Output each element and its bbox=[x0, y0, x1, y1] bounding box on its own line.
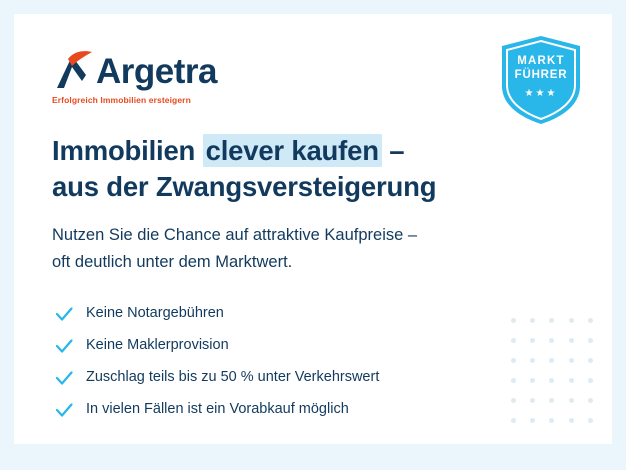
logo-tagline: Erfolgreich Immobilien ersteigern bbox=[52, 95, 252, 105]
argetra-a-mark-icon bbox=[52, 48, 94, 90]
badge-line-1: MARKT bbox=[498, 54, 584, 68]
list-item-label: In vielen Fällen ist ein Vorabkauf mögli… bbox=[86, 399, 349, 419]
list-item-label: Keine Notargebühren bbox=[86, 303, 224, 323]
list-item-label: Keine Maklerprovision bbox=[86, 335, 229, 355]
frame-band-bottom bbox=[0, 444, 626, 470]
subheadline-line-2: oft deutlich unter dem Marktwert. bbox=[52, 249, 552, 276]
headline-line-2: aus der Zwangsversteigerung bbox=[52, 169, 522, 205]
badge-stars: ★★★ bbox=[498, 88, 584, 99]
list-item: Keine Notargebühren bbox=[54, 298, 574, 328]
market-leader-badge: MARKT FÜHRER ★★★ bbox=[498, 34, 584, 126]
list-item: Keine Maklerprovision bbox=[54, 330, 574, 360]
benefit-list: Keine Notargebühren Keine Maklerprovisio… bbox=[54, 298, 574, 426]
logo-row: Argetra bbox=[52, 44, 252, 90]
promo-banner: Argetra Erfolgreich Immobilien ersteiger… bbox=[0, 0, 626, 470]
check-icon bbox=[54, 336, 74, 356]
headline-line-1-pre: Immobilien bbox=[52, 135, 203, 166]
subheadline: Nutzen Sie die Chance auf attraktive Kau… bbox=[52, 222, 552, 276]
check-icon bbox=[54, 368, 74, 388]
frame-band-left bbox=[0, 0, 14, 470]
frame-band-top bbox=[0, 0, 626, 14]
argetra-logo[interactable]: Argetra Erfolgreich Immobilien ersteiger… bbox=[52, 44, 252, 105]
check-icon bbox=[54, 304, 74, 324]
page-title: Immobilien clever kaufen – aus der Zwang… bbox=[52, 133, 522, 205]
headline-line-1: Immobilien clever kaufen – bbox=[52, 133, 522, 169]
logo-wordmark: Argetra bbox=[96, 54, 217, 90]
headline-line-1-post: – bbox=[382, 135, 405, 166]
frame-band-right bbox=[612, 0, 626, 470]
list-item-label: Zuschlag teils bis zu 50 % unter Verkehr… bbox=[86, 367, 379, 387]
badge-line-2: FÜHRER bbox=[498, 68, 584, 82]
badge-text: MARKT FÜHRER bbox=[498, 54, 584, 82]
subheadline-line-1: Nutzen Sie die Chance auf attraktive Kau… bbox=[52, 222, 552, 249]
list-item: Zuschlag teils bis zu 50 % unter Verkehr… bbox=[54, 362, 574, 392]
list-item: In vielen Fällen ist ein Vorabkauf mögli… bbox=[54, 394, 574, 424]
check-icon bbox=[54, 400, 74, 420]
headline-highlight: clever kaufen bbox=[203, 134, 382, 167]
